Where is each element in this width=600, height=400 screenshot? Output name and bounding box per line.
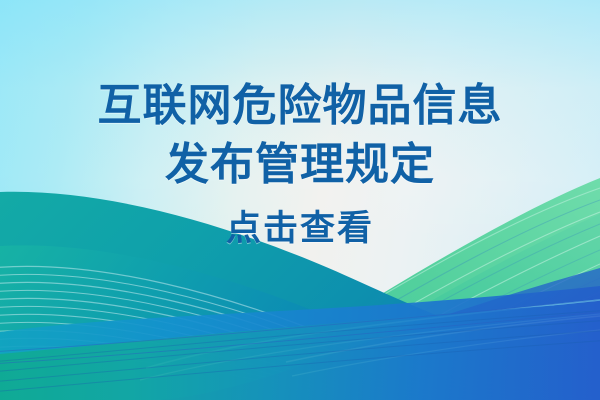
promo-banner[interactable]: 互联网危险物品信息 发布管理规定 点击查看 bbox=[0, 0, 600, 400]
wave-graphic bbox=[0, 0, 600, 400]
